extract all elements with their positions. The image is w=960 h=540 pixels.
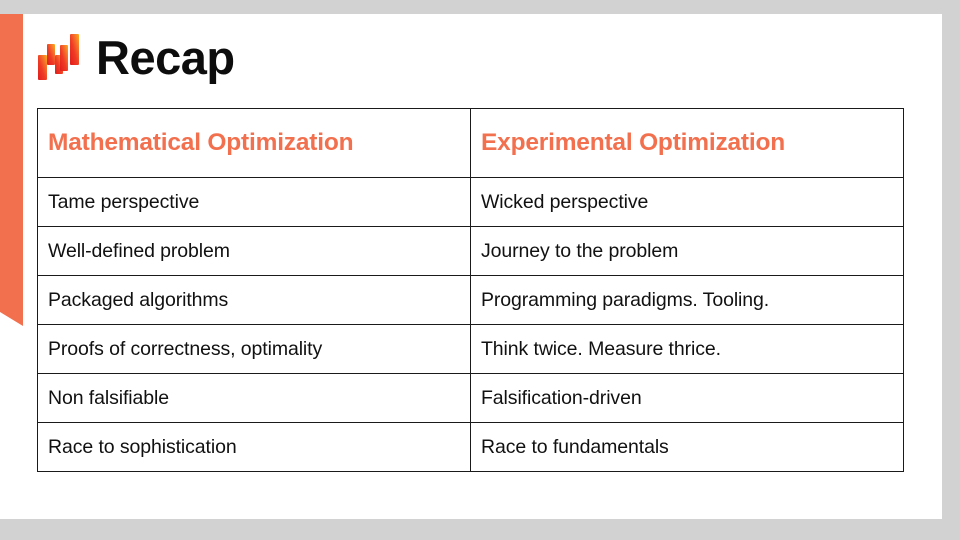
bar-chart-logo-icon bbox=[38, 34, 80, 80]
comparison-table: Mathematical Optimization Experimental O… bbox=[37, 108, 904, 472]
slide-canvas: Recap Mathematical Optimization Experime… bbox=[0, 14, 942, 519]
cell-mathematical: Non falsifiable bbox=[38, 374, 471, 423]
cell-experimental: Race to fundamentals bbox=[471, 423, 904, 472]
cell-mathematical: Packaged algorithms bbox=[38, 276, 471, 325]
table-header-row: Mathematical Optimization Experimental O… bbox=[38, 109, 904, 178]
table-row: Race to sophistication Race to fundament… bbox=[38, 423, 904, 472]
cell-experimental: Journey to the problem bbox=[471, 227, 904, 276]
page-title: Recap bbox=[96, 34, 235, 81]
column-header-experimental-optimization: Experimental Optimization bbox=[471, 109, 904, 178]
cell-mathematical: Well-defined problem bbox=[38, 227, 471, 276]
table-row: Well-defined problem Journey to the prob… bbox=[38, 227, 904, 276]
left-accent-bar bbox=[0, 14, 23, 326]
table-row: Non falsifiable Falsification-driven bbox=[38, 374, 904, 423]
table-row: Tame perspective Wicked perspective bbox=[38, 178, 904, 227]
cell-mathematical: Proofs of correctness, optimality bbox=[38, 325, 471, 374]
cell-mathematical: Race to sophistication bbox=[38, 423, 471, 472]
table-row: Proofs of correctness, optimality Think … bbox=[38, 325, 904, 374]
cell-experimental: Wicked perspective bbox=[471, 178, 904, 227]
cell-experimental: Falsification-driven bbox=[471, 374, 904, 423]
page-background: Recap Mathematical Optimization Experime… bbox=[0, 0, 960, 540]
cell-experimental: Programming paradigms. Tooling. bbox=[471, 276, 904, 325]
cell-mathematical: Tame perspective bbox=[38, 178, 471, 227]
slide-header: Recap bbox=[38, 26, 235, 88]
column-header-mathematical-optimization: Mathematical Optimization bbox=[38, 109, 471, 178]
table-row: Packaged algorithms Programming paradigm… bbox=[38, 276, 904, 325]
cell-experimental: Think twice. Measure thrice. bbox=[471, 325, 904, 374]
